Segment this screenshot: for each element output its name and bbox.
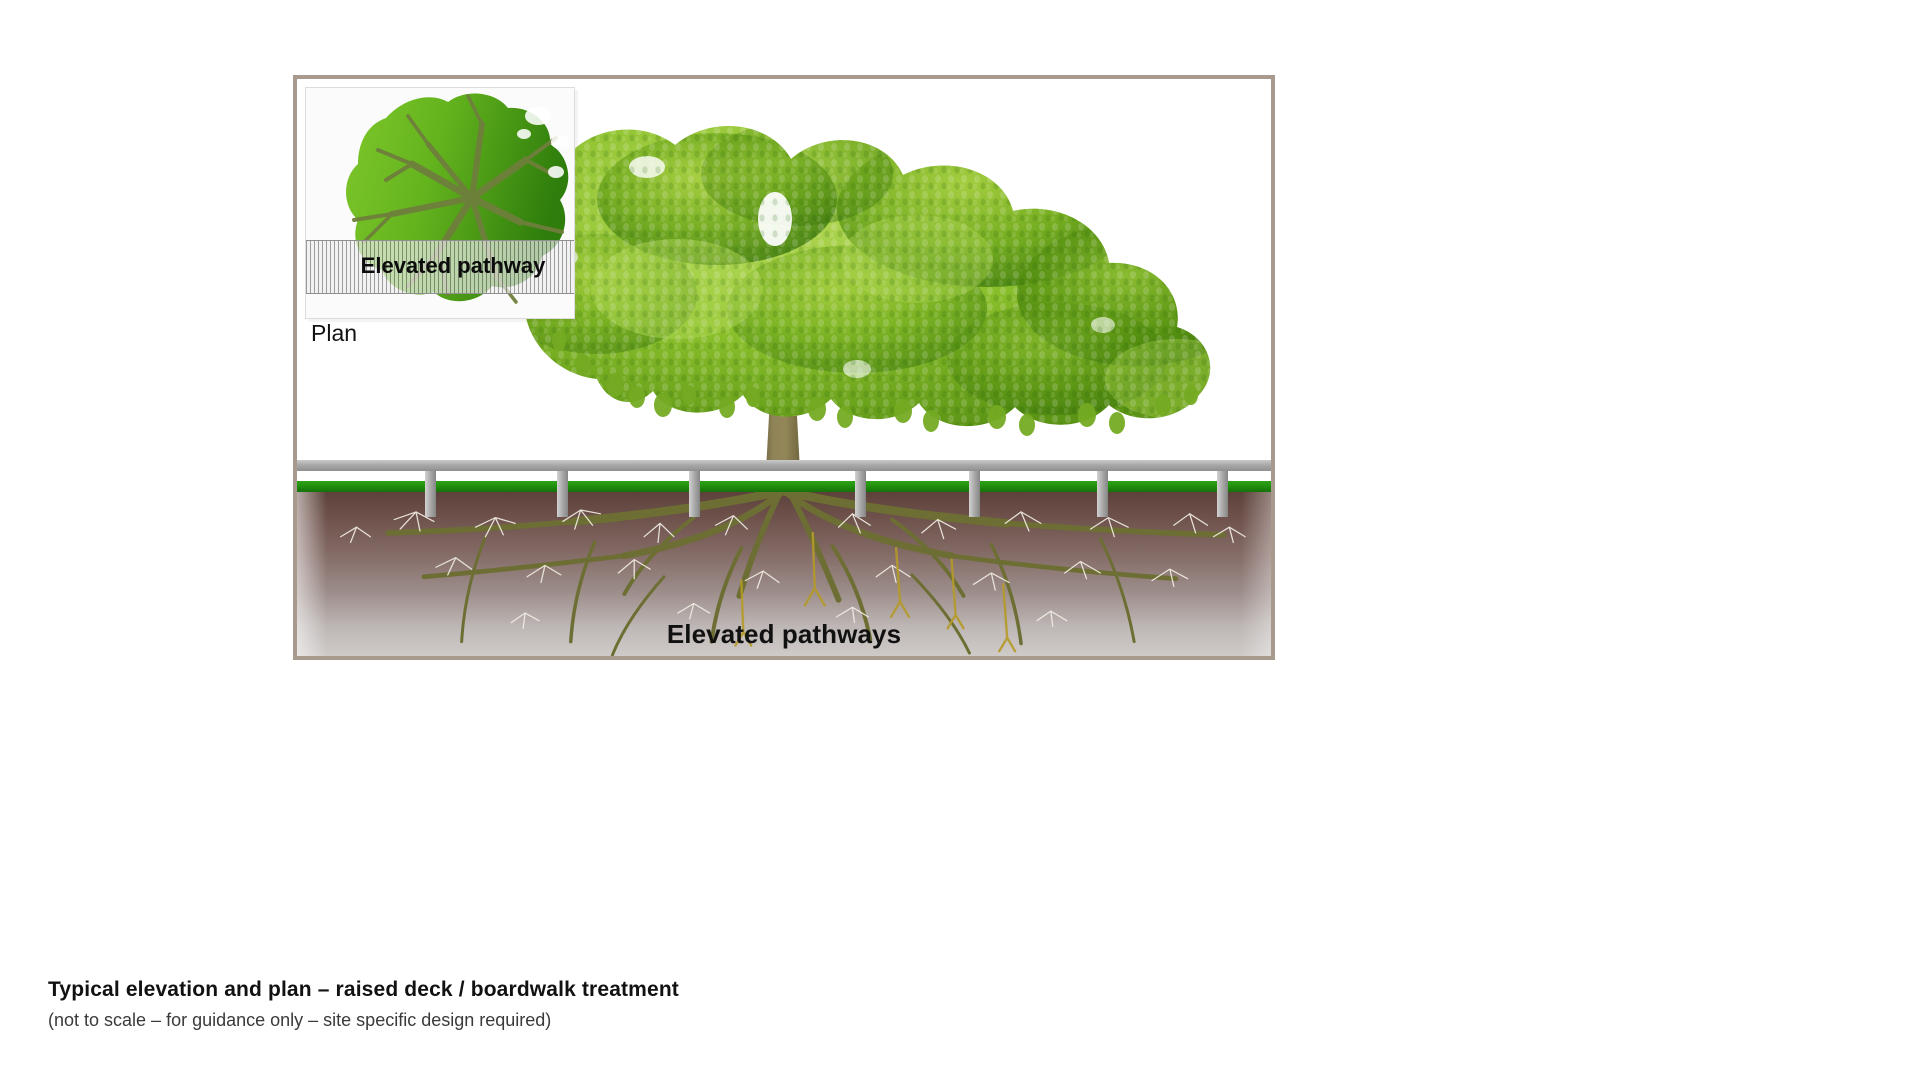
deck-support-post xyxy=(1097,471,1108,517)
deck-support-post xyxy=(969,471,980,517)
boardwalk-deck-slab xyxy=(297,460,1271,471)
deck-support-post xyxy=(425,471,436,517)
deck-support-post xyxy=(1217,471,1228,517)
plan-card: Elevated pathway xyxy=(305,87,575,319)
plan-pathway-label: Elevated pathway xyxy=(306,253,575,279)
figure-caption-title: Typical elevation and plan – raised deck… xyxy=(48,978,1248,1002)
figure-caption: Typical elevation and plan – raised deck… xyxy=(48,978,1248,1031)
deck-support-post xyxy=(689,471,700,517)
figure-caption-subtitle: (not to scale – for guidance only – site… xyxy=(48,1010,1248,1031)
elevation-pathway-label: Elevated pathways xyxy=(297,619,1271,650)
plan-view-caption: Plan xyxy=(311,320,357,347)
plan-view-inset: Elevated pathway Plan xyxy=(305,87,605,352)
grass-surface xyxy=(297,481,1271,492)
deck-support-post xyxy=(855,471,866,517)
diagram-frame: Elevated pathways xyxy=(293,75,1275,660)
deck-support-post xyxy=(557,471,568,517)
